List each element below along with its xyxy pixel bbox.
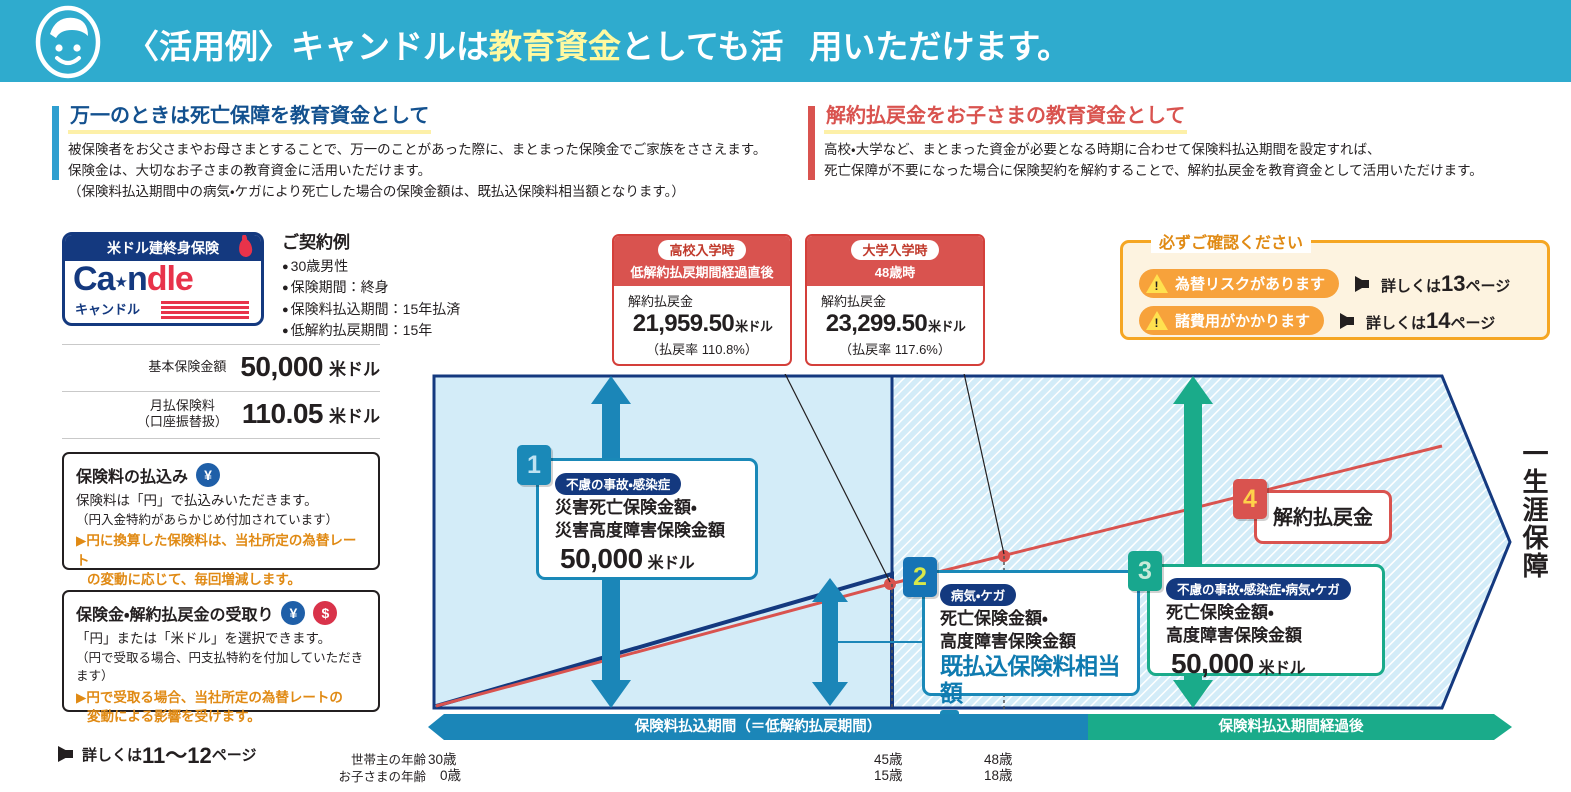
logo-letter-n: n [127, 260, 147, 298]
benefit-line-2: 高度障害保険金額 [940, 632, 1137, 652]
intro-left-body-2: 保険金は、大切なお子さまの教育資金に活用いただけます。 [68, 163, 431, 178]
arrow-right-icon [1340, 313, 1354, 329]
amount-label: 月払保険料 （口座振替扱） [137, 398, 228, 431]
warning-text: 諸費用がかかります [1175, 310, 1310, 331]
info-note: ▶円で受取る場合、当社所定の為替レートの 変動による影響を受けます。 [76, 688, 366, 726]
intro-left-body-1: 被保険者をお父さまやお母さまとすることで、万一のことがあった際に、まとまった保険… [68, 142, 766, 157]
confirm-row: 為替リスクがあります 詳しくは13ページ [1139, 269, 1510, 298]
callout-body: 解約払戻金 21,959.50米ドル （払戻率 110.8%） [614, 286, 790, 364]
info-box-heading-row: 保険料の払込み ¥ [76, 463, 366, 487]
logo-top-label: 米ドル建終身保険 [107, 240, 219, 256]
benefit-amount-value: 50,000 [560, 543, 643, 574]
contract-example-title: ご契約例 [282, 228, 462, 253]
benefit-amount-unit: 米ドル [1259, 660, 1306, 677]
info-box-premium-payment: 保険料の払込み ¥ 保険料は「円」で払込みいただきます。 （円入金特約があらかじ… [62, 452, 380, 570]
badge-number: 4 [1233, 479, 1267, 519]
benefit-amount-value: 50,000 [1171, 648, 1254, 679]
info-note-line-2: 変動による影響を受けます。 [76, 707, 366, 726]
callout-label: 解約払戻金 [614, 291, 790, 310]
title-suffix: としても活 [621, 28, 783, 65]
logo-letter-a: a [97, 260, 115, 298]
chart-callout-4: 4 解約払戻金 [1254, 490, 1392, 544]
page-reference-link[interactable]: 詳しくは14ページ [1366, 308, 1495, 334]
confirm-row: 諸費用がかかります 詳しくは14ページ [1139, 306, 1495, 335]
lifelong-coverage-label: 一生涯保障 [1508, 440, 1548, 580]
info-line-2: （円入金特約があらかじめ付加されています） [76, 511, 366, 529]
callout-amount: 21,959.50米ドル [614, 310, 790, 338]
list-item: 低解約払戻期間：15年 [282, 320, 462, 341]
candle-flame-icon [238, 238, 253, 257]
page-ref-prefix: 詳しくは [1366, 315, 1426, 332]
surrender-point-45 [884, 578, 896, 590]
callout-pill: 大学入学時 [851, 240, 938, 260]
info-note-line-1: ▶円で受取る場合、当社所定の為替レートの [76, 690, 343, 705]
info-box-heading-row: 保険金・解約払戻金の受取り ¥ $ [76, 601, 366, 625]
candle-product-logo: 米ドル建終身保険 Ca★ndle キャンドル [62, 232, 264, 326]
intro-right-body-1: 高校・大学など、まとまった資金が必要となる時期に合わせて保険料払込期間を設定すれ… [824, 142, 1380, 157]
list-item: 保険期間：終身 [282, 277, 462, 298]
page-ref-number: 11〜12 [142, 738, 212, 770]
amount-label-line1: 月払保険料 [150, 398, 215, 413]
badge-number: 3 [1128, 551, 1162, 591]
age-child: 15歳 [874, 768, 903, 783]
callout-subtitle: 低解約払戻期間経過直後 [614, 262, 790, 281]
benefit-line-1: 死亡保険金額・ [1166, 603, 1382, 623]
contract-example-list: 30歳男性 保険期間：終身 保険料払込期間：15年払済 低解約払戻期間：15年 [282, 256, 462, 341]
callout-header: 大学入学時 48歳時 [807, 236, 983, 286]
page-ref-number: 13 [1441, 271, 1465, 296]
smiling-face-icon [30, 4, 106, 80]
age-axis-headers: 世帯主の年齢 お子さまの年齢 [330, 752, 426, 786]
warning-triangle-icon [1146, 274, 1168, 293]
callout-body: 解約払戻金 23,299.50米ドル （払戻率 117.6%） [807, 286, 983, 364]
age-tick-48: 48歳 18歳 [984, 752, 1013, 783]
amount-unit: 米ドル [329, 355, 380, 380]
page-ref-suffix: ページ [1466, 278, 1511, 295]
intro-left-body-3: （保険料払込期間中の病気・ケガにより死亡した場合の保険金額は、既払込保険料相当額… [68, 184, 685, 199]
amount-label-line2: （口座振替扱） [137, 414, 228, 429]
callout-amount-value: 21,959.50 [633, 310, 734, 337]
surrender-value-label: 解約払戻金 [1257, 493, 1389, 543]
page-reference-link[interactable]: 詳しくは13ページ [1381, 271, 1510, 297]
list-item: 保険料払込期間：15年払済 [282, 299, 462, 320]
amounts-table: 基本保険金額 50,000 米ドル 月払保険料 （口座振替扱） 110.05 米… [62, 344, 380, 439]
benefit-amount: 既払込保険料相当額 [940, 653, 1137, 707]
page-ref-prefix: 詳しくは [1381, 278, 1441, 295]
timeline-label-payment-period: 保険料払込期間（＝低解約払戻期間） [428, 714, 1088, 740]
table-row: 基本保険金額 50,000 米ドル [62, 344, 380, 392]
benefit-amount: 50,000米ドル [1166, 647, 1382, 680]
warning-pill-exchange-risk: 為替リスクがあります [1139, 269, 1339, 298]
info-line-1: 保険料は「円」で払込みいただきます。 [76, 491, 366, 511]
callout-header: 高校入学時 低解約払戻期間経過直後 [614, 236, 790, 286]
callout-rate: （払戻率 110.8%） [614, 339, 790, 358]
info-line-1: 「円」または「米ドル」を選択できます。 [76, 629, 366, 649]
age-household: 30歳 [428, 752, 457, 767]
amount-value: 50,000 [240, 351, 323, 383]
callout-amount: 23,299.50米ドル [807, 310, 983, 338]
age-tick-45: 45歳 15歳 [874, 752, 903, 783]
callout-amount-unit: 米ドル [928, 319, 965, 334]
page-header: 〈活用例〉キャンドルは教育資金としても活用いただけます。 [0, 0, 1571, 82]
info-box-heading: 保険金・解約払戻金の受取り [76, 601, 273, 625]
logo-wordmark: Ca★ndle [73, 261, 193, 304]
page-ref-number: 14 [1426, 308, 1450, 333]
benefit-line-1: 死亡保険金額・ [940, 609, 1137, 629]
age-header-household: 世帯主の年齢 [351, 753, 426, 767]
table-row: 月払保険料 （口座振替扱） 110.05 米ドル [62, 392, 380, 439]
list-item: 30歳男性 [282, 256, 462, 277]
warning-triangle-icon [1146, 311, 1168, 330]
logo-letter-c: C [73, 260, 97, 298]
age-child: 0歳 [428, 768, 461, 784]
intro-block-surrender-value: 解約払戻金をお子さまの教育資金として 高校・大学など、まとまった資金が必要となる… [808, 104, 1568, 181]
info-note-line-1: ▶円に換算した保険料は、当社所定の為替レート [76, 533, 356, 567]
chart-callout-3: 3 不慮の事故・感染症・病気・ケガ 死亡保険金額・ 高度障害保険金額 50,00… [1147, 564, 1385, 676]
info-box-benefit-receipt: 保険金・解約払戻金の受取り ¥ $ 「円」または「米ドル」を選択できます。 （円… [62, 590, 380, 712]
amount-label: 基本保険金額 [148, 359, 226, 375]
age-tick-30: 30歳 0歳 [428, 752, 461, 783]
page-ref-suffix: ページ [1451, 315, 1496, 332]
yen-coin-icon: ¥ [196, 463, 220, 487]
callout-rate: （払戻率 117.6%） [807, 339, 983, 358]
info-box-heading: 保険料の払込み [76, 463, 188, 487]
logo-kana-label: キャンドル [75, 299, 140, 318]
benefit-line-2: 高度障害保険金額 [1166, 626, 1382, 646]
confirm-notice-box: 必ずご確認ください 為替リスクがあります 詳しくは13ページ 諸費用がかかります… [1120, 240, 1550, 340]
benefit-line-2: 災害高度障害保険金額 [555, 521, 755, 541]
intro-right-heading: 解約払戻金をお子さまの教育資金として [824, 104, 1187, 134]
logo-top-label-bar: 米ドル建終身保険 [65, 235, 261, 261]
arrow-right-icon [1355, 276, 1369, 292]
title-prefix: 〈活用例〉キャンドルは [126, 28, 489, 65]
benefit-amount: 50,000米ドル [555, 542, 755, 575]
title-highlight: 教育資金 [489, 28, 621, 65]
chart-callout-2: 2 病気・ケガ 死亡保険金額・ 高度障害保険金額 既払込保険料相当額 1 で支払… [922, 570, 1140, 696]
title-tail: 用いただけます。 [809, 28, 1070, 65]
arrow-right-icon [58, 746, 73, 762]
callout-subtitle: 48歳時 [807, 262, 983, 281]
benefit-chart: 1 不慮の事故・感染症 災害死亡保険金額・ 災害高度障害保険金額 50,000米… [432, 374, 1512, 710]
accent-bar [52, 106, 59, 180]
benefit-amount-unit: 米ドル [648, 555, 695, 572]
cause-pill: 不慮の事故・感染症・病気・ケガ [1166, 578, 1351, 600]
yen-coin-icon: ¥ [281, 601, 305, 625]
callout-amount-unit: 米ドル [735, 319, 772, 334]
dollar-coin-icon: $ [313, 601, 337, 625]
age-household: 48歳 [984, 752, 1013, 767]
badge-number: 1 [517, 445, 551, 485]
accent-bar [808, 106, 815, 180]
intro-block-death-benefit: 万一のときは死亡保障を教育資金として 被保険者をお父さまやお母さまとすることで、… [52, 104, 797, 202]
page-ref-suffix: ページ [212, 744, 257, 765]
age-header-child: お子さまの年齢 [338, 770, 426, 784]
callout-pill: 高校入学時 [658, 240, 745, 260]
age-child: 18歳 [984, 768, 1013, 783]
amount-label-line1: 基本保険金額 [148, 359, 226, 374]
logo-stripes [161, 301, 249, 321]
callout-amount-value: 23,299.50 [826, 310, 927, 337]
logo-letters-dle: dle [147, 260, 193, 298]
badge-number: 2 [903, 557, 937, 597]
page-ref-prefix: 詳しくは [82, 744, 142, 765]
warning-pill-fees: 諸費用がかかります [1139, 306, 1324, 335]
intro-left-heading: 万一のときは死亡保障を教育資金として [68, 104, 431, 134]
callout-high-school-entry: 高校入学時 低解約払戻期間経過直後 解約払戻金 21,959.50米ドル （払戻… [612, 234, 792, 366]
confirm-box-title: 必ずご確認ください [1151, 229, 1311, 253]
benefit-line-1: 災害死亡保険金額・ [555, 498, 755, 518]
amount-value: 110.05 [242, 398, 323, 430]
contract-example: ご契約例 30歳男性 保険期間：終身 保険料払込期間：15年払済 低解約払戻期間… [282, 228, 462, 341]
callout-label: 解約払戻金 [807, 291, 983, 310]
warning-text: 為替リスクがあります [1175, 273, 1325, 294]
info-note-line-2: の変動に応じて、毎回増減します。 [76, 570, 366, 589]
cause-pill: 病気・ケガ [940, 584, 1016, 606]
star-icon: ★ [114, 274, 126, 291]
amount-unit: 米ドル [329, 402, 380, 427]
cause-pill: 不慮の事故・感染症 [555, 473, 681, 495]
timeline-label-after-payment: 保険料払込期間経過後 [1088, 714, 1494, 740]
callout-university-entry: 大学入学時 48歳時 解約払戻金 23,299.50米ドル （払戻率 117.6… [805, 234, 985, 366]
info-line-2: （円で受取る場合、円支払特約を付加していただきます） [76, 649, 366, 685]
chart-callout-1: 1 不慮の事故・感染症 災害死亡保険金額・ 災害高度障害保険金額 50,000米… [536, 458, 758, 580]
info-note: ▶円に換算した保険料は、当社所定の為替レート の変動に応じて、毎回増減します。 [76, 531, 366, 588]
age-household: 45歳 [874, 752, 903, 767]
page-reference-link-left[interactable]: 詳しくは11〜12ページ [58, 738, 256, 770]
page-title: 〈活用例〉キャンドルは教育資金としても活用いただけます。 [126, 20, 1070, 68]
intro-right-body-2: 死亡保障が不要になった場合に保険契約を解約することで、解約払戻金を教育資金として… [824, 163, 1483, 178]
